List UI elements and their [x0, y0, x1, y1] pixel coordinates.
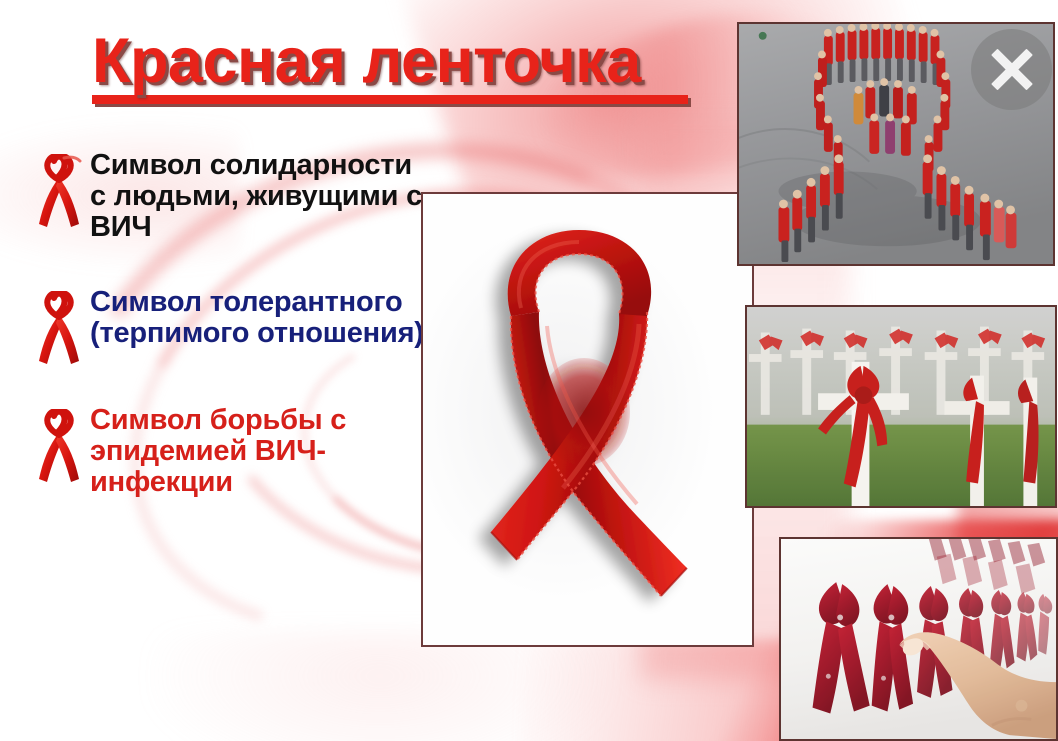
red-ribbon-icon: [36, 291, 82, 365]
large-red-ribbon-illustration: [451, 216, 731, 626]
list-item-label: Символ солидарности с людьми, живущими с…: [90, 150, 431, 243]
pink-wash-bottom: [150, 631, 610, 741]
title-underline: [92, 95, 688, 104]
photo-white-crosses-with-ribbons: [745, 305, 1057, 508]
close-button[interactable]: [971, 29, 1052, 110]
slide-title-block: Красная ленточка: [92, 30, 688, 104]
red-ribbon-icon: [36, 154, 82, 228]
list-item: Символ солидарности с людьми, живущими с…: [36, 150, 431, 243]
presentation-slide: Красная ленточка: [0, 0, 1058, 741]
list-item: Символ толерантного (терпимого отношения…: [36, 287, 431, 365]
bullet-list: Символ солидарности с людьми, живущими с…: [36, 150, 431, 526]
list-item-label: Символ борьбы с эпидемией ВИЧ-инфекции: [90, 405, 431, 498]
red-ribbon-icon: [36, 409, 82, 483]
list-item: Символ борьбы с эпидемией ВИЧ-инфекции: [36, 405, 431, 498]
page-title: Красная ленточка: [92, 30, 688, 93]
list-item-label: Символ толерантного (терпимого отношения…: [90, 287, 431, 349]
photo-hand-touching-ribbons: [779, 537, 1058, 741]
red-awareness-ribbon-photo: [421, 192, 754, 647]
